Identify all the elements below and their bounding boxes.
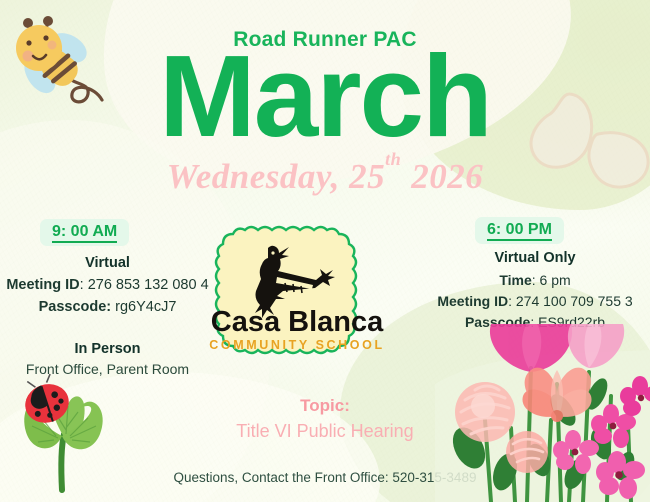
- evening-time-label: 6: 00 PM: [487, 221, 552, 241]
- flower-carnation-large: [455, 382, 515, 442]
- evening-time-field-label: Time: [499, 272, 531, 288]
- morning-session-details: Virtual Meeting ID: 276 853 132 080 4 Pa…: [0, 255, 215, 377]
- evening-meeting-id-label: Meeting ID: [437, 293, 508, 309]
- morning-passcode-row: Passcode: rg6Y4cJ7: [0, 297, 215, 319]
- morning-meeting-id-label: Meeting ID: [6, 277, 79, 293]
- morning-inperson-header: In Person: [0, 341, 215, 357]
- flyer-canvas: Road Runner PAC March Wednesday, 25th202…: [0, 0, 650, 502]
- morning-time-badge: 9: 00 AM: [40, 219, 129, 246]
- clover-icon: [4, 370, 122, 500]
- evening-meeting-id-value: : 274 100 709 755 3: [508, 293, 633, 309]
- event-weekday-day: Wednesday, 25: [167, 157, 385, 196]
- morning-passcode-value: rg6Y4cJ7: [111, 299, 176, 315]
- flowers-icon: [435, 324, 650, 502]
- flower-carnation-small: [506, 431, 548, 473]
- morning-virtual-header: Virtual: [0, 255, 215, 271]
- date-ordinal-suffix: th: [385, 149, 401, 169]
- event-year: 2026: [411, 157, 483, 196]
- evening-meeting-id-row: Meeting ID: 274 100 709 755 3: [420, 291, 650, 312]
- morning-meeting-id-value: : 276 853 132 080 4: [80, 277, 209, 293]
- evening-time-row: Time: 6 pm: [420, 270, 650, 291]
- school-logo: Casa Blanca COMMUNITY SCHOOL: [201, 228, 394, 362]
- page-title: March: [0, 38, 650, 154]
- morning-meeting-id-row: Meeting ID: 276 853 132 080 4: [0, 275, 215, 297]
- logo-tagline: COMMUNITY SCHOOL: [209, 338, 384, 352]
- evening-session-details: Virtual Only Time: 6 pm Meeting ID: 274 …: [420, 250, 650, 333]
- evening-virtual-header: Virtual Only: [420, 250, 650, 266]
- logo-name: Casa Blanca: [211, 306, 384, 338]
- evening-time-field-value: : 6 pm: [532, 272, 571, 288]
- event-date: Wednesday, 25th2026: [0, 157, 650, 197]
- morning-passcode-label: Passcode:: [39, 299, 112, 315]
- morning-time-label: 9: 00 AM: [52, 223, 117, 243]
- evening-time-badge: 6: 00 PM: [475, 217, 564, 244]
